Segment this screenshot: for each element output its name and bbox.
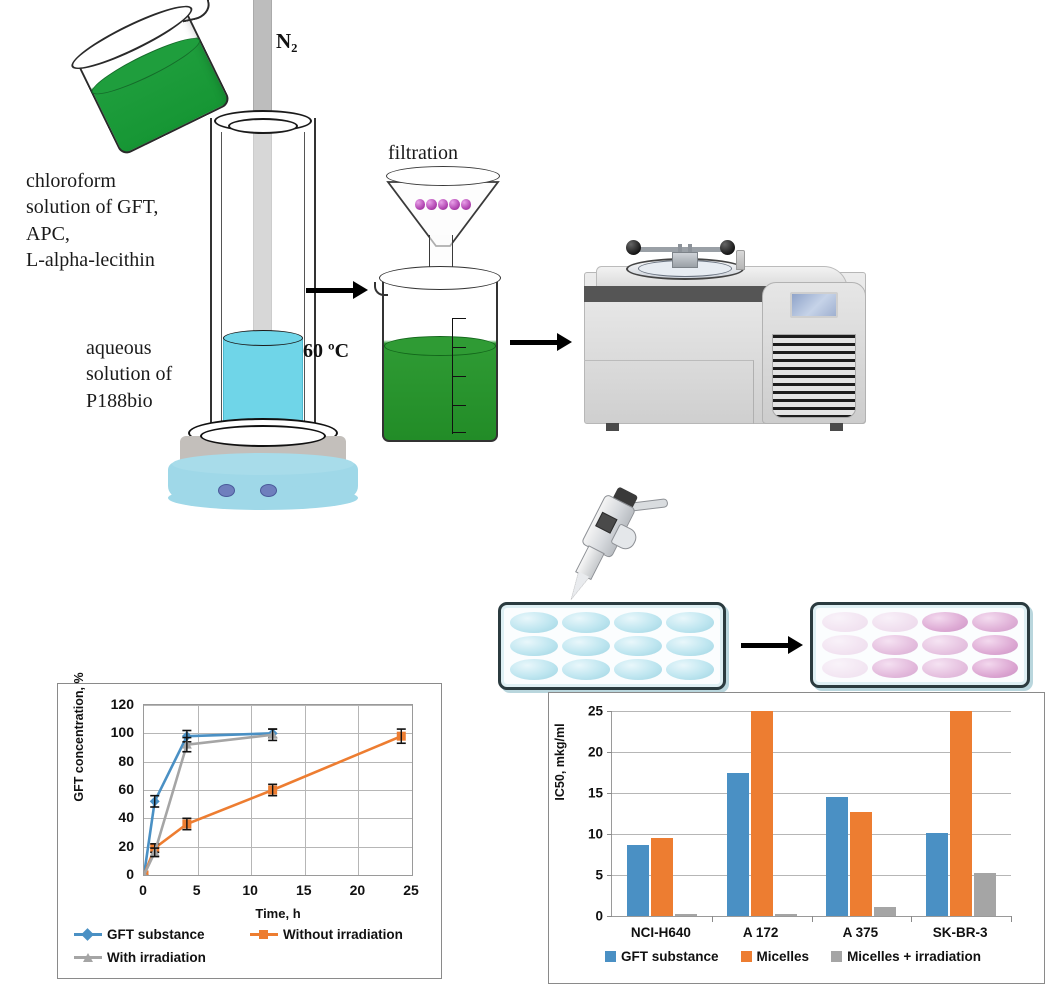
line-chart-x-tick: 25 <box>394 882 428 898</box>
filtered-solution-beaker-rim <box>379 266 501 290</box>
line-chart-x-tick: 5 <box>180 882 214 898</box>
freeze-dryer-foot-left <box>606 423 619 431</box>
bar-chart-legend-item[interactable]: GFT substance <box>605 949 719 964</box>
well <box>562 659 610 680</box>
bar-chart-legend: GFT substanceMicellesMicelles + irradiat… <box>605 949 981 964</box>
bar <box>727 773 749 917</box>
well <box>922 658 968 678</box>
bar-group <box>612 711 712 916</box>
well <box>822 612 868 632</box>
beaker-spout <box>178 0 212 22</box>
well <box>510 612 558 633</box>
legend-marker-triangle <box>83 953 93 962</box>
figure-canvas: N₂ chloroform solution of GFT, APC, L-al… <box>0 0 1049 993</box>
bar <box>675 914 697 916</box>
well <box>562 636 610 657</box>
well <box>972 635 1018 655</box>
bar-chart-category-label: A 172 <box>711 925 811 940</box>
line-series-gft-substance <box>144 733 273 875</box>
bar-chart-y-tick: 0 <box>569 909 603 924</box>
legend-line-swatch <box>250 933 278 936</box>
freeze-dryer-knob-right[interactable] <box>720 240 735 255</box>
freeze-dryer-dark-band <box>584 286 772 302</box>
ic50-cytotoxicity-chart: IC50, mkg/ml GFT substanceMicellesMicell… <box>548 692 1045 984</box>
legend-marker-diamond <box>81 928 94 941</box>
freeze-dryer-vial <box>736 250 745 270</box>
well <box>822 635 868 655</box>
stirrer-plate-inner-ring <box>200 425 326 447</box>
stirrer-knob-left[interactable] <box>218 484 235 497</box>
well <box>614 659 662 680</box>
legend-label: Without irradiation <box>283 927 403 942</box>
line-chart-plot-area <box>143 704 413 876</box>
bar <box>775 914 797 916</box>
funnel-filter-beads <box>415 199 471 210</box>
aqueous-liquid-surface <box>223 330 303 346</box>
line-chart-y-tick: 20 <box>98 838 134 854</box>
well-plate-stained[interactable] <box>810 602 1030 688</box>
well <box>922 635 968 655</box>
line-chart-x-tick: 0 <box>126 882 160 898</box>
freeze-dryer-vent-grille <box>772 334 856 418</box>
bar-chart-y-axis-label: IC50, mkg/ml <box>553 703 567 821</box>
bar-chart-legend-item[interactable]: Micelles <box>741 949 810 964</box>
funnel-rim <box>386 166 500 186</box>
chloroform-solution-label: chloroform solution of GFT, APC, L-alpha… <box>26 168 212 274</box>
well <box>666 636 714 657</box>
legend-line-swatch <box>74 933 102 936</box>
line-chart-y-tick: 0 <box>98 866 134 882</box>
process-arrow-3 <box>741 634 803 656</box>
freeze-dryer-valve-block <box>672 252 698 268</box>
line-chart-legend-item[interactable]: GFT substance <box>74 927 234 942</box>
line-chart-y-tick: 60 <box>98 781 134 797</box>
well-grid <box>510 612 714 680</box>
pipette-tip <box>566 572 589 602</box>
well <box>666 612 714 633</box>
bead <box>461 199 471 210</box>
aqueous-solution-label: aqueous solution of P188bio <box>86 335 226 414</box>
legend-label: Micelles <box>757 949 810 964</box>
stirrer-base <box>168 462 358 498</box>
well-grid <box>822 612 1018 678</box>
line-chart-legend: GFT substanceWithout irradiationWith irr… <box>74 927 430 965</box>
bar-chart-y-tick: 15 <box>569 786 603 801</box>
bar <box>974 873 996 916</box>
well <box>972 658 1018 678</box>
legend-label: GFT substance <box>107 927 205 942</box>
category-separator <box>712 916 713 922</box>
line-chart-y-tick: 100 <box>98 724 134 740</box>
category-separator <box>812 916 813 922</box>
well <box>614 636 662 657</box>
line-chart-x-axis-label: Time, h <box>143 906 413 921</box>
process-arrow-1 <box>306 278 368 302</box>
bar <box>950 711 972 916</box>
bar-chart-category-label: A 375 <box>811 925 911 940</box>
bar <box>751 711 773 916</box>
well <box>562 612 610 633</box>
legend-color-swatch <box>831 951 842 962</box>
bead <box>415 199 425 210</box>
line-chart-legend-item[interactable]: Without irradiation <box>250 927 410 942</box>
legend-line-swatch <box>74 956 102 959</box>
bar-chart-y-tick: 25 <box>569 704 603 719</box>
release-kinetics-chart: GFT concentration, % Time, h GFT substan… <box>57 683 442 979</box>
bead <box>426 199 436 210</box>
well-plate-untreated[interactable] <box>498 602 726 690</box>
bar-chart-y-tick: 5 <box>569 868 603 883</box>
well <box>510 659 558 680</box>
freeze-dryer-foot-right <box>830 423 843 431</box>
line-chart-y-tick: 40 <box>98 809 134 825</box>
filtration-label: filtration <box>388 140 458 166</box>
well <box>972 612 1018 632</box>
cylinder-collar-inner <box>228 118 298 134</box>
bar-group <box>712 711 812 916</box>
bar-chart-y-tick: 10 <box>569 827 603 842</box>
freeze-dryer-knob-left[interactable] <box>626 240 641 255</box>
well <box>614 612 662 633</box>
bar <box>850 812 872 916</box>
legend-color-swatch <box>741 951 752 962</box>
bead <box>438 199 448 210</box>
line-chart-x-tick: 10 <box>233 882 267 898</box>
line-series-with-irradiation <box>144 735 273 875</box>
bar <box>627 845 649 916</box>
filtered-solution-beaker-body <box>382 276 498 442</box>
category-separator <box>1011 916 1012 922</box>
legend-label: With irradiation <box>107 950 206 965</box>
line-chart-y-tick: 80 <box>98 753 134 769</box>
bar-chart-category-label: SK-BR-3 <box>910 925 1010 940</box>
line-chart-y-tick: 120 <box>98 696 134 712</box>
bar-group <box>911 711 1011 916</box>
well <box>922 612 968 632</box>
beaker-graduation-scale <box>452 318 468 434</box>
legend-label: GFT substance <box>621 949 719 964</box>
legend-marker-square <box>259 930 268 939</box>
line-chart-legend-item[interactable]: With irradiation <box>74 950 430 965</box>
well <box>872 635 918 655</box>
temperature-label: 60 ºC <box>303 340 349 363</box>
bar-group <box>812 711 912 916</box>
well <box>822 658 868 678</box>
bar <box>926 833 948 916</box>
bar-chart-legend-item[interactable]: Micelles + irradiation <box>831 949 981 964</box>
freeze-dryer-display-screen[interactable] <box>790 292 838 318</box>
legend-color-swatch <box>605 951 616 962</box>
bar-chart-y-tick: 20 <box>569 745 603 760</box>
well <box>510 636 558 657</box>
bar <box>651 838 673 916</box>
line-chart-y-axis-label: GFT concentration, % <box>72 672 86 802</box>
filtered-solution-beaker-spout <box>374 282 388 296</box>
bar-chart-category-label: NCI-H640 <box>611 925 711 940</box>
bar <box>874 907 896 916</box>
nitrogen-label: N₂ <box>276 29 297 54</box>
category-separator <box>911 916 912 922</box>
filtered-solution-surface <box>384 336 496 356</box>
well <box>666 659 714 680</box>
line-chart-x-tick: 15 <box>287 882 321 898</box>
well <box>872 612 918 632</box>
line-chart-x-tick: 20 <box>340 882 374 898</box>
bar-chart-plot-area <box>611 711 1011 917</box>
bar <box>826 797 848 916</box>
legend-label: Micelles + irradiation <box>847 949 981 964</box>
freeze-dryer-door-seam <box>584 360 754 424</box>
stirrer-knob-right[interactable] <box>260 484 277 497</box>
bar-chart-y-tickmark <box>607 916 612 917</box>
line-chart-series-layer <box>144 705 412 875</box>
bead <box>449 199 459 210</box>
well <box>872 658 918 678</box>
freeze-dryer <box>576 230 874 440</box>
process-arrow-2 <box>510 330 572 354</box>
